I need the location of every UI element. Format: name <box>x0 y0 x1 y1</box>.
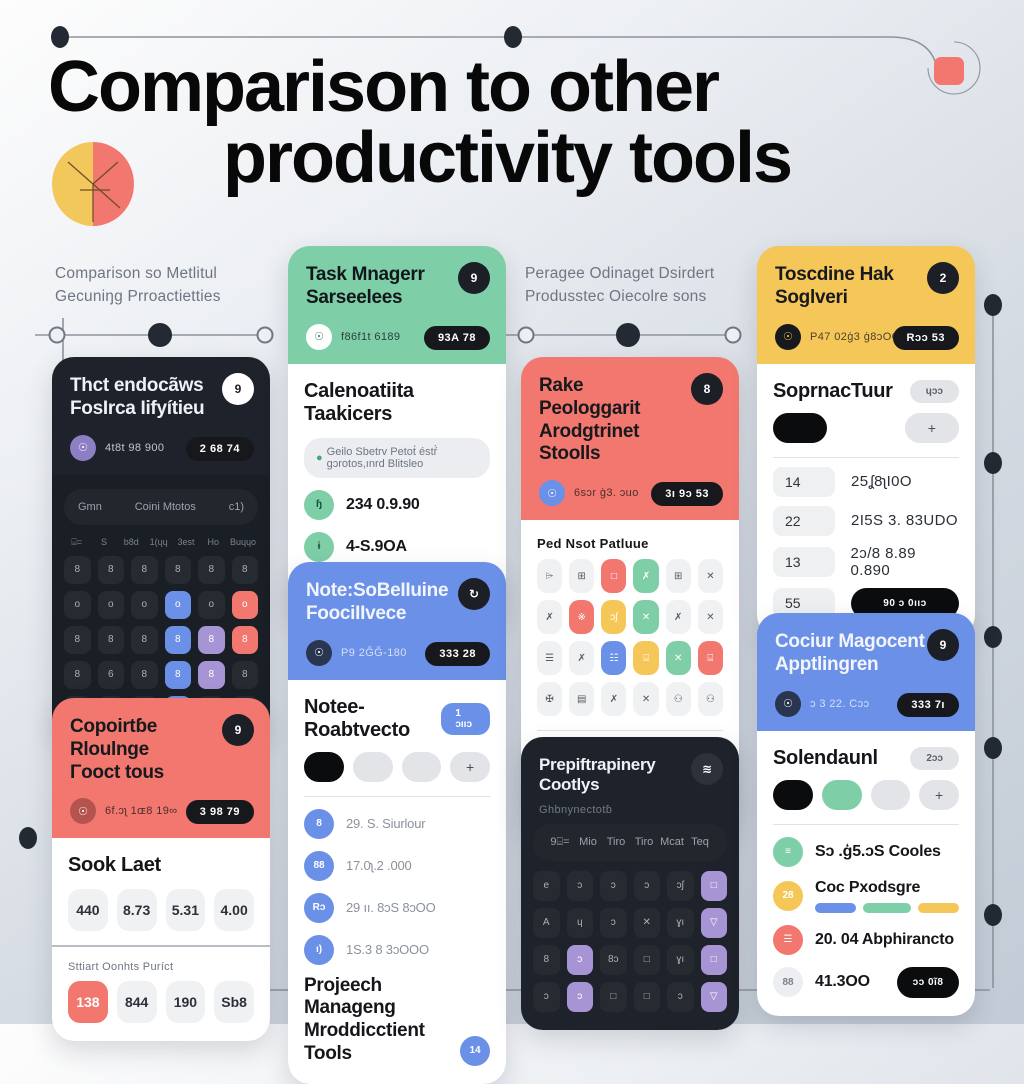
card-body: 9⌸=MioTiroTiroMcatTeq eɔɔɔɔʃ□Aɥɔ✕ɣı▽8ɔ8ɔ… <box>521 820 739 1020</box>
icon-cell[interactable]: ɔ <box>600 908 627 938</box>
grid-cell[interactable]: 8 <box>198 661 225 689</box>
icon-cell[interactable]: ⊞ <box>666 559 691 593</box>
icon-cell[interactable]: ɔ <box>600 871 627 901</box>
note-list[interactable]: 829. S. Siurlour8817.0ʅ.2 .000Rɔ29 ıı. 8… <box>304 809 490 965</box>
grid-cell[interactable]: 8 <box>232 626 259 654</box>
connector-dot <box>984 626 1002 648</box>
icon-cell[interactable]: ▽ <box>701 908 728 938</box>
pie-chart-icon <box>52 142 134 226</box>
badge-icon: ≋ <box>702 762 712 776</box>
avatar: ☰ <box>773 925 803 955</box>
icon-cell[interactable]: ɥ <box>567 908 594 938</box>
chip-row[interactable]: + <box>773 413 959 443</box>
avatar: ☉ <box>306 324 332 350</box>
card-footer: Projeech Manageng Mroddicctient Tools 14 <box>304 975 490 1066</box>
icon-cell[interactable]: ▽ <box>701 982 728 1012</box>
card-title: Toscdine Hak Soglveri <box>775 264 925 310</box>
avatar: 88 <box>304 851 334 881</box>
grid-column-label: 9⌸= <box>547 836 573 849</box>
avatar: ☉ <box>775 691 801 717</box>
grid-column-label: Ho <box>203 537 224 548</box>
card-badge[interactable]: 9 <box>222 373 254 405</box>
slider-handle-active[interactable] <box>616 323 640 347</box>
icon-cell[interactable]: ✕ <box>698 559 723 593</box>
slider-handle[interactable] <box>257 327 274 344</box>
score-tile[interactable]: Sb8 <box>214 981 254 1023</box>
filter-chip-bar[interactable]: ● Geilo Sbetrv Petot́ éstŕ́ gɔrotos,ın… <box>304 438 490 478</box>
dashboard-value: 20. 04 Abphirancto <box>815 931 959 949</box>
connector-dot <box>984 452 1002 474</box>
status-badge: 93A 78 <box>424 326 490 350</box>
caption-left: Comparison so Metlitul Gecuniŋg Prroacti… <box>55 262 221 309</box>
icon-grid[interactable]: eɔɔɔɔʃ□Aɥɔ✕ɣı▽8ɔ8ɔ□ɣı□ɔɔ□□ɔ▽ <box>533 871 727 1012</box>
icon-cell[interactable]: ⊞ <box>569 559 594 593</box>
connector-dot <box>504 26 522 48</box>
card-badge[interactable]: ≋ <box>691 753 723 785</box>
status-badge: Rɔɔ 53 <box>893 326 959 350</box>
grid-cell[interactable]: o <box>131 591 158 619</box>
grid-column-labels: ⌸=Sb8d1(ɥɥ3estHoBuɥɥo <box>66 537 256 548</box>
status-badge: 333 28 <box>425 642 490 666</box>
card-title: Copoirtɓe Rloulnge Γooct tous <box>70 716 220 784</box>
card-badge[interactable]: 9 <box>222 714 254 746</box>
icon-cell[interactable]: □ <box>701 871 728 901</box>
card-title: Note:SoBeIIuine FoociIIvece <box>306 580 456 626</box>
stat-row[interactable]: 222Ι5S 3. 83UDO <box>773 506 959 536</box>
card-subtitle: Ghbnynectotɓ <box>539 804 721 816</box>
connector-dot <box>51 26 69 48</box>
icon-cell[interactable]: ✗ <box>569 641 594 675</box>
icon-cell[interactable]: ɔʃ <box>601 600 626 634</box>
grid-column-label: Tiro <box>603 836 629 848</box>
card-title: Cociur Magocent Apptlingren <box>775 631 925 677</box>
grid-cell[interactable]: 8 <box>131 661 158 689</box>
meta-text: 4t8t 98 900 <box>105 442 164 454</box>
card-yellow-stats[interactable]: Toscdine Hak Soglveri 2 ☉ P47 02ģ3 ģ8ɔOO… <box>757 246 975 637</box>
grid-cell[interactable]: 8 <box>198 556 225 584</box>
grid-column-label: ⌸= <box>66 537 87 548</box>
tag-icon <box>930 53 968 89</box>
icon-cell[interactable]: □ <box>634 945 661 975</box>
section-tag[interactable]: 1 ɔııɔ <box>441 703 490 735</box>
note-value: 29 ıı. 8ɔS 8ɔOO <box>346 900 436 915</box>
icon-cell[interactable]: ✕ <box>698 600 723 634</box>
slider-handle-active[interactable] <box>148 323 172 347</box>
stat-value: 2ɔ/8 8.89 0.890 <box>851 545 959 579</box>
icon-cell[interactable]: □ <box>634 982 661 1012</box>
icon-cell[interactable]: ɣı <box>667 945 694 975</box>
grid-column-labels: 9⌸=MioTiroTiroMcatTeq <box>533 824 727 861</box>
chip-add[interactable]: + <box>919 780 959 810</box>
icon-cell[interactable]: □ <box>701 945 728 975</box>
cta-button[interactable]: ɔɔ 0ĩ8 <box>897 967 959 998</box>
score-tile[interactable]: 440 <box>68 889 108 931</box>
dashboard-row[interactable]: 8841.3OOɔɔ 0ĩ8 <box>773 967 959 998</box>
card-blue-dashboard[interactable]: Cociur Magocent Apptlingren 9 ☉ ɔ 3 22. … <box>757 613 975 1016</box>
icon-cell[interactable]: ✗ <box>666 600 691 634</box>
meta-text: f86f1t 6189 <box>341 331 400 343</box>
grid-cell[interactable]: 6 <box>98 661 125 689</box>
section-title: Calenoatiita Taakicers <box>304 380 490 426</box>
grid-cell[interactable]: 8 <box>232 556 259 584</box>
card-title: Rake Peologgarit Arodgtrinet Stoolls <box>539 375 689 466</box>
divider <box>773 457 959 458</box>
card-blue-notes[interactable]: Note:SoBeIIuine FoociIIvece ↻ ☉ P9 2ĞĞ-1… <box>288 562 506 1084</box>
chip[interactable] <box>402 752 442 782</box>
progress-bar <box>918 903 959 913</box>
avatar: 88 <box>773 967 803 997</box>
icon-cell[interactable]: ✗ <box>537 600 562 634</box>
search-input[interactable]: Gmn Coini Mtotos c1) <box>64 489 258 525</box>
icon-cell[interactable]: □ <box>600 982 627 1012</box>
grid-column-label: Mio <box>575 836 601 848</box>
slider-handle[interactable] <box>518 327 535 344</box>
chip-selected[interactable] <box>304 752 344 782</box>
card-title: Task Mnagerr Sarseelees <box>306 264 456 310</box>
card-header: Task Mnagerr Sarseelees 9 ☉ f86f1t 6189 … <box>288 246 506 364</box>
dashboard-list[interactable]: ≡Sɔ .ģ5.ɔS Cooles28Coc Pxodsgre☰20. 04 A… <box>773 837 959 998</box>
connector-dot <box>984 737 1002 759</box>
meta-text: 6sɔr ģ3. ɔuo <box>574 487 639 499</box>
status-badge: 333 7ı <box>897 693 959 717</box>
caption-mid-text: Peragee Odinaget Dsirdert Produsstec Oie… <box>525 262 714 309</box>
grid-cell[interactable]: 8 <box>98 556 125 584</box>
avatar: ☉ <box>70 435 96 461</box>
icon-cell[interactable]: ⌲ <box>537 559 562 593</box>
card-title: Thct endocãws FosIrca Iifyítieu <box>70 375 220 421</box>
avatar: ɧ <box>304 490 334 520</box>
score-tile[interactable]: 5.31 <box>166 889 206 931</box>
card-badge[interactable]: 9 <box>458 262 490 294</box>
card-header: Copoirtɓe Rloulnge Γooct tous 9 ☉ 6f.ɔʅ … <box>52 698 270 838</box>
note-row[interactable]: Rɔ29 ıı. 8ɔS 8ɔOO <box>304 893 490 923</box>
title-line-2: productivity tools <box>223 123 988 194</box>
search-center-label: Coini Mtotos <box>135 501 196 513</box>
slider-handle[interactable] <box>725 327 742 344</box>
card-title: Prepiftrapinery Cootlys <box>539 755 694 796</box>
section-tag[interactable]: ɥɔɔ <box>910 380 959 403</box>
icon-cell[interactable]: ✕ <box>666 641 691 675</box>
icon-cell[interactable]: A <box>533 908 560 938</box>
dashboard-row-content: Coc Pxodsgre <box>815 879 959 913</box>
grid-cell[interactable]: 8 <box>64 661 91 689</box>
avatar: ☉ <box>539 480 565 506</box>
chip-add[interactable]: + <box>905 413 959 443</box>
section-title: Sook Laet <box>68 854 254 877</box>
icon-cell[interactable]: ✕ <box>633 682 658 716</box>
filter-chip-label: Geilo Sbetrv Petot́ éstŕ́ gɔrotos,ınrd… <box>327 446 478 470</box>
infographic-canvas: Comparison to other productivity tools C… <box>0 0 1024 1024</box>
stat-key: 14 <box>773 467 835 497</box>
task-value: 234 0.9.90 <box>346 496 420 514</box>
grid-column-label: Tiro <box>631 836 657 848</box>
progress-bar <box>815 903 856 913</box>
icon-cell[interactable]: ▤ <box>569 682 594 716</box>
card-dark-grid[interactable]: Thct endocãws FosIrca Iifyítieu 9 ☉ 4t8t… <box>52 357 270 740</box>
section-title: Solendaunl <box>773 747 878 770</box>
divider <box>537 730 723 731</box>
icon-cell[interactable]: ✠ <box>537 682 562 716</box>
stat-key: 22 <box>773 506 835 536</box>
dashboard-row-content: 20. 04 Abphirancto <box>815 931 959 949</box>
page-title: Comparison to other productivity tools <box>48 52 988 193</box>
icon-grid[interactable]: ⌲⊞□✗⊞✕✗※ɔʃ✕✗✕☰✗☷⌸✕⌸✠▤✗✕⚇⚇ <box>537 559 723 716</box>
search-icon[interactable]: c1) <box>229 501 244 513</box>
avatar: ☉ <box>306 640 332 666</box>
card-badge[interactable]: ↻ <box>458 578 490 610</box>
avatar: ≡ <box>773 837 803 867</box>
avatar: Rɔ <box>304 893 334 923</box>
title-line-1: Comparison to other <box>48 47 718 127</box>
chip[interactable] <box>871 780 911 810</box>
icon-cell[interactable]: ɔ <box>567 945 594 975</box>
caption-left-text: Comparison so Metlitul Gecuniŋg Prroacti… <box>55 262 221 309</box>
card-dark-icons[interactable]: Prepiftrapinery Cootlys ≋ Ghbnynectotɓ 9… <box>521 737 739 1030</box>
icon-cell[interactable]: 8 <box>533 945 560 975</box>
slider-handle[interactable] <box>49 327 66 344</box>
card-header: Prepiftrapinery Cootlys ≋ Ghbnynectotɓ <box>521 737 739 820</box>
dashboard-row-content: 41.3OO <box>815 973 877 991</box>
note-value: 1S.3 8 3ɔOOO <box>346 942 429 957</box>
progress-bar <box>863 903 912 913</box>
icon-cell[interactable]: ✕ <box>633 600 658 634</box>
chip-green[interactable] <box>822 780 862 810</box>
divider <box>52 945 270 947</box>
status-badge: 3 98 79 <box>186 800 254 824</box>
note-value: 17.0ʅ.2 .000 <box>346 858 412 873</box>
grid-cell[interactable]: 8 <box>131 556 158 584</box>
icon-cell[interactable]: ☷ <box>601 641 626 675</box>
card-body: Sook Laet 4408.735.314.00 Sttiart Oonhts… <box>52 838 270 1041</box>
card-header: Thct endocãws FosIrca Iifyítieu 9 ☉ 4t8t… <box>52 357 270 475</box>
grid-cell[interactable]: 8 <box>165 626 192 654</box>
grid-column-label: b8d <box>121 537 142 548</box>
stat-key: 13 <box>773 547 835 577</box>
card-badge[interactable]: 9 <box>927 629 959 661</box>
card-body: Notee-Roabtvecto 1 ɔııɔ + 829. S. Siurlo… <box>288 680 506 1084</box>
card-body: Solendaunl 2ɔɔ + ≡Sɔ .ģ5.ɔS Cooles28Coc … <box>757 731 975 1016</box>
icon-cell[interactable]: ※ <box>569 600 594 634</box>
grid-column-label: 1(ɥɥ <box>148 537 169 548</box>
icon-cell[interactable]: ⚇ <box>666 682 691 716</box>
score-tile[interactable]: 190 <box>166 981 206 1023</box>
chip-row[interactable]: + <box>304 752 490 782</box>
section-tag[interactable]: 2ɔɔ <box>910 747 959 770</box>
avatar: 8 <box>304 809 334 839</box>
section-label: Sttiart Oonhts Puríct <box>68 961 254 973</box>
score-tile[interactable]: 8.73 <box>117 889 157 931</box>
icon-cell[interactable]: ɔ <box>667 982 694 1012</box>
card-header: Cociur Magocent Apptlingren 9 ☉ ɔ 3 22. … <box>757 613 975 731</box>
dashboard-row-content: Sɔ .ģ5.ɔS Cooles <box>815 843 959 861</box>
card-badge[interactable]: 2 <box>927 262 959 294</box>
icon-cell[interactable]: ɔ <box>567 982 594 1012</box>
section-title: SoprnacTuur <box>773 380 893 403</box>
grid-column-label: Buɥɥo <box>230 537 256 548</box>
icon-cell[interactable]: ɔ <box>567 871 594 901</box>
grid-cell[interactable]: 8 <box>98 626 125 654</box>
card-coral-scores[interactable]: Copoirtɓe Rloulnge Γooct tous 9 ☉ 6f.ɔʅ … <box>52 698 270 1041</box>
task-row[interactable]: ɨ4-S.9OA <box>304 532 490 562</box>
grid-cell[interactable]: 8 <box>64 556 91 584</box>
grid-cell[interactable]: o <box>64 591 91 619</box>
score-tile[interactable]: 4.00 <box>214 889 254 931</box>
grid-cell[interactable]: 8 <box>198 626 225 654</box>
card-body: SoprnacTuur ɥɔɔ + 1425ʆ8ʅΙ0O222Ι5S 3. 83… <box>757 364 975 637</box>
note-row[interactable]: 8817.0ʅ.2 .000 <box>304 851 490 881</box>
connector-dot <box>984 294 1002 316</box>
meta-text: P47 02ģ3 ģ8ɔOO <box>810 331 901 343</box>
icon-cell[interactable]: ☰ <box>537 641 562 675</box>
grid-cell[interactable]: 8 <box>232 661 259 689</box>
avatar: ɨ <box>304 532 334 562</box>
icon-cell[interactable]: e <box>533 871 560 901</box>
icon-cell[interactable]: 8ɔ <box>600 945 627 975</box>
connector-dot <box>984 904 1002 926</box>
dashboard-row[interactable]: 28Coc Pxodsgre <box>773 879 959 913</box>
divider <box>773 824 959 825</box>
icon-cell[interactable]: ✗ <box>601 682 626 716</box>
card-header: Rake Peologgarit Arodgtrinet Stoolls 8 ☉… <box>521 357 739 520</box>
task-row[interactable]: ɧ234 0.9.90 <box>304 490 490 520</box>
icon-cell[interactable]: ɔʃ <box>667 871 694 901</box>
grid-cell[interactable]: 8 <box>131 626 158 654</box>
grid-cell[interactable]: o <box>198 591 225 619</box>
chip-selected[interactable] <box>773 780 813 810</box>
icon-cell[interactable]: □ <box>601 559 626 593</box>
dashboard-value: Sɔ .ģ5.ɔS Cooles <box>815 843 959 861</box>
stat-row[interactable]: 1425ʆ8ʅΙ0O <box>773 467 959 497</box>
footer-badge[interactable]: 14 <box>460 1036 490 1066</box>
chip-row[interactable]: + <box>773 780 959 810</box>
search-left-label: Gmn <box>78 501 102 513</box>
meta-text: ɔ 3 22. Cɔɔ <box>810 698 869 710</box>
icon-cell[interactable]: ✕ <box>634 908 661 938</box>
icon-cell[interactable]: ✗ <box>633 559 658 593</box>
grid-column-label: 3est <box>175 537 196 548</box>
caption-mid: Peragee Odinaget Dsirdert Produsstec Oie… <box>525 262 714 309</box>
score-tiles-secondary[interactable]: 138844190Sb8 <box>68 981 254 1023</box>
chip-add[interactable]: + <box>450 752 490 782</box>
dashboard-row[interactable]: ≡Sɔ .ģ5.ɔS Cooles <box>773 837 959 867</box>
icon-cell[interactable]: ⌸ <box>698 641 723 675</box>
grid-cell[interactable]: o <box>232 591 259 619</box>
grid-column-label: Mcat <box>659 836 685 848</box>
chip-selected[interactable] <box>773 413 827 443</box>
meta-text: 6f.ɔʅ 1ɶ8 19∞ <box>105 805 178 817</box>
stat-row[interactable]: 132ɔ/8 8.89 0.890 <box>773 545 959 579</box>
section-title: Notee-Roabtvecto <box>304 696 441 742</box>
note-row[interactable]: 829. S. Siurlour <box>304 809 490 839</box>
card-header: Note:SoBeIIuine FoociIIvece ↻ ☉ P9 2ĞĞ-1… <box>288 562 506 680</box>
icon-cell[interactable]: ɔ <box>533 982 560 1012</box>
avatar: 28 <box>773 881 803 911</box>
grid-column-label: Teq <box>687 836 713 848</box>
dashboard-row[interactable]: ☰20. 04 Abphirancto <box>773 925 959 955</box>
meta-text: P9 2ĞĞ-180 <box>341 647 407 659</box>
dashboard-value: Coc Pxodsgre <box>815 879 959 897</box>
icon-cell[interactable]: ɔ <box>634 871 661 901</box>
grid-cell[interactable]: 8 <box>165 661 192 689</box>
score-tiles[interactable]: 4408.735.314.00 <box>68 889 254 931</box>
icon-cell[interactable]: ɣı <box>667 908 694 938</box>
grid-column-label: S <box>93 537 114 548</box>
note-row[interactable]: ı)1S.3 8 3ɔOOO <box>304 935 490 965</box>
avatar: ☉ <box>70 798 96 824</box>
grid-cell[interactable]: o <box>165 591 192 619</box>
footer-title: Projeech Manageng Mroddicctient Tools <box>304 975 450 1066</box>
note-value: 29. S. Siurlour <box>346 816 425 831</box>
divider <box>304 796 490 797</box>
status-badge: 2 68 74 <box>186 437 254 461</box>
chip[interactable] <box>353 752 393 782</box>
card-header: Toscdine Hak Soglveri 2 ☉ P47 02ģ3 ģ8ɔOO… <box>757 246 975 364</box>
grid-cell[interactable]: o <box>98 591 125 619</box>
score-tile[interactable]: 138 <box>68 981 108 1023</box>
grid-cell[interactable]: 8 <box>64 626 91 654</box>
task-value: 4-S.9OA <box>346 538 407 556</box>
avatar: ☉ <box>775 324 801 350</box>
stat-list[interactable]: 1425ʆ8ʅΙ0O222Ι5S 3. 83UDO132ɔ/8 8.89 0.8… <box>773 467 959 619</box>
connector-dot <box>19 827 37 849</box>
score-tile[interactable]: 844 <box>117 981 157 1023</box>
status-badge: 3ı 9ɔ 53 <box>651 482 723 506</box>
avatar: ı) <box>304 935 334 965</box>
icon-cell[interactable]: ⚇ <box>698 682 723 716</box>
card-badge[interactable]: 8 <box>691 373 723 405</box>
grid-cell[interactable]: 8 <box>165 556 192 584</box>
stat-value: 2Ι5S 3. 83UDO <box>851 512 958 529</box>
dashboard-value: 41.3OO <box>815 973 877 991</box>
stat-value: 25ʆ8ʅΙ0O <box>851 473 912 490</box>
progress-bars <box>815 903 959 913</box>
section-title: Ped Nsot Patluue <box>537 536 723 551</box>
icon-cell[interactable]: ⌸ <box>633 641 658 675</box>
